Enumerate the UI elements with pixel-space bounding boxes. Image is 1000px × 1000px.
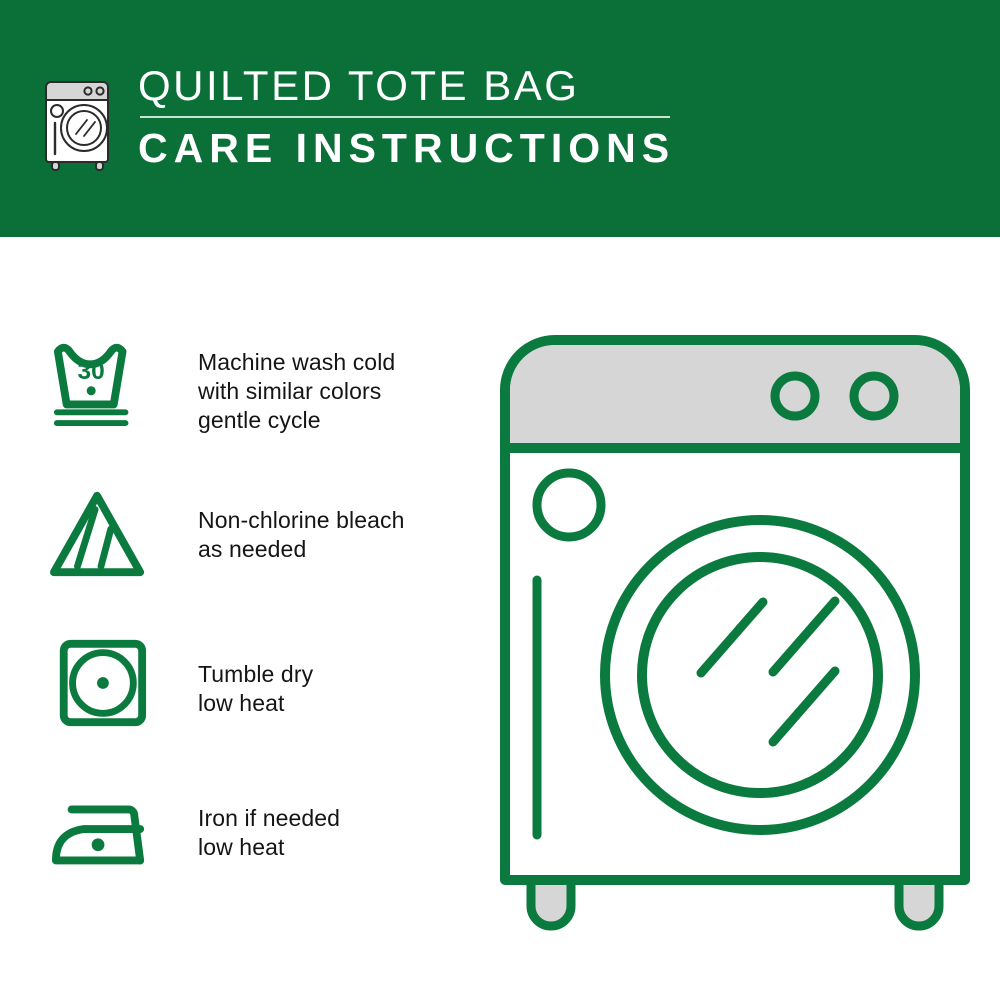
care-row-wash: 30 Machine wash cold with similar colors…	[46, 330, 466, 448]
header-title-group: QUILTED TOTE BAG CARE INSTRUCTIONS	[138, 62, 675, 171]
care-label-line: low heat	[198, 689, 313, 718]
care-label-line: gentle cycle	[198, 406, 395, 435]
washing-machine-icon	[40, 66, 122, 171]
care-row-iron: Iron if needed low heat	[46, 784, 466, 902]
care-instruction-list: 30 Machine wash cold with similar colors…	[46, 330, 466, 942]
page-title: QUILTED TOTE BAG	[138, 62, 675, 110]
care-label-iron: Iron if needed low heat	[176, 784, 340, 862]
page-subtitle: CARE INSTRUCTIONS	[138, 125, 675, 171]
title-divider	[140, 116, 670, 118]
care-label-bleach: Non-chlorine bleach as needed	[176, 484, 404, 564]
header-banner: QUILTED TOTE BAG CARE INSTRUCTIONS	[0, 0, 1000, 237]
care-label-wash: Machine wash cold with similar colors ge…	[176, 330, 395, 435]
wash-tub-symbol: 30	[46, 330, 176, 428]
wash-temperature-label: 30	[78, 358, 105, 385]
header-content: QUILTED TOTE BAG CARE INSTRUCTIONS	[40, 62, 675, 171]
care-label-line: Iron if needed	[198, 804, 340, 833]
care-label-line: low heat	[198, 833, 340, 862]
care-row-tumble-dry: Tumble dry low heat	[46, 634, 466, 752]
iron-symbol	[46, 784, 176, 882]
care-label-line: as needed	[198, 535, 404, 564]
care-label-line: Non-chlorine bleach	[198, 506, 404, 535]
care-label-line: Tumble dry	[198, 660, 313, 689]
care-label-line: with similar colors	[198, 377, 395, 406]
tumble-dry-symbol	[46, 634, 176, 732]
care-row-bleach: Non-chlorine bleach as needed	[46, 484, 466, 602]
bleach-triangle-symbol	[46, 484, 176, 582]
care-label-tumble-dry: Tumble dry low heat	[176, 634, 313, 718]
front-load-washing-machine-illustration	[495, 330, 975, 940]
care-label-line: Machine wash cold	[198, 348, 395, 377]
